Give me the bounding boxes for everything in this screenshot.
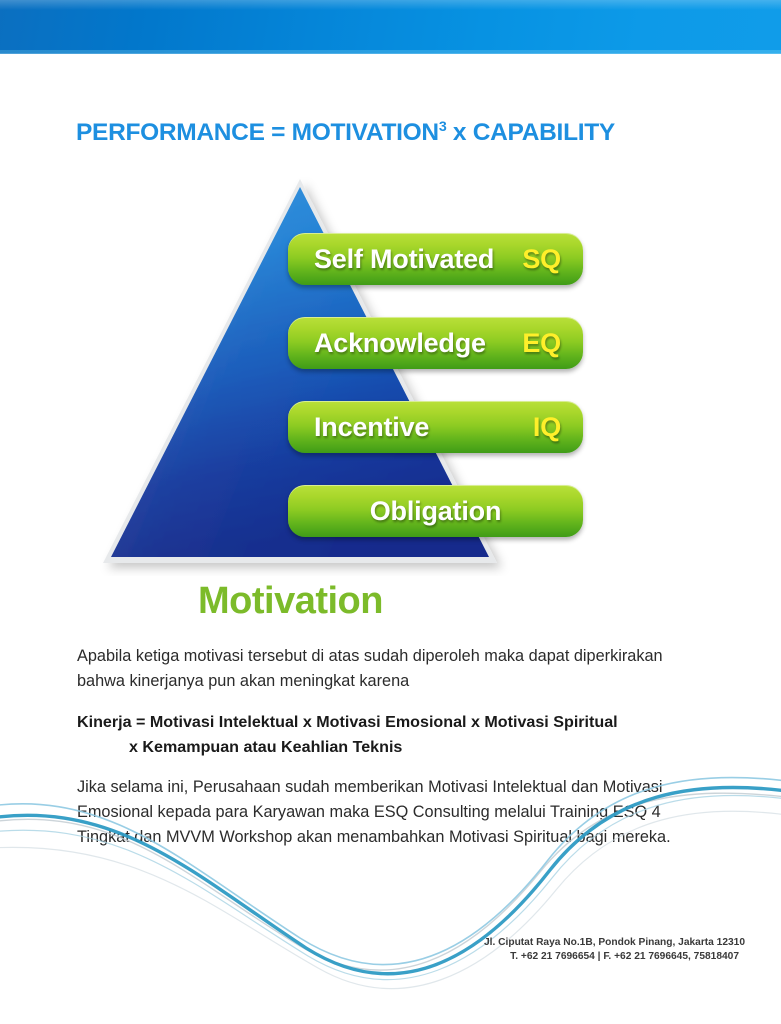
pyramid-level-bar-acknowledge[interactable]: Acknowledge EQ	[288, 317, 583, 369]
level-label: Incentive	[314, 412, 429, 443]
level-label: Acknowledge	[314, 328, 486, 359]
footer-address-line: Jl. Ciputat Raya No.1B, Pondok Pinang, J…	[0, 936, 745, 950]
level-acronym: IQ	[533, 412, 561, 443]
motivation-heading: Motivation	[198, 580, 383, 623]
formula-line-2: x Kemampuan atau Keahlian Teknis	[77, 735, 709, 760]
paragraph-intro: Apabila ketiga motivasi tersebut di atas…	[77, 644, 709, 694]
formula-block: Kinerja = Motivasi Intelektual x Motivas…	[77, 710, 709, 760]
brochure-page: PERFORMANCE = MOTIVATION3 x CAPABILITY	[0, 0, 781, 1024]
footer-contact-line: T. +62 21 7696654 | F. +62 21 7696645, 7…	[0, 950, 745, 964]
level-acronym: SQ	[522, 244, 561, 275]
page-title-suffix: x CAPABILITY	[446, 119, 615, 146]
level-label: Obligation	[370, 496, 501, 527]
pyramid-level-bar-obligation[interactable]: Obligation	[288, 485, 583, 537]
header-banner	[0, 0, 781, 53]
formula-line-1: Kinerja = Motivasi Intelektual x Motivas…	[77, 713, 618, 731]
footer-address: Jl. Ciputat Raya No.1B, Pondok Pinang, J…	[0, 936, 745, 964]
pyramid-level-bar-self-motivated[interactable]: Self Motivated SQ	[288, 233, 583, 285]
paragraph-closing: Jika selama ini, Perusahaan sudah member…	[77, 775, 709, 850]
page-title: PERFORMANCE = MOTIVATION3 x CAPABILITY	[76, 119, 615, 147]
level-label: Self Motivated	[314, 244, 494, 275]
header-banner-edge	[0, 50, 781, 54]
page-title-prefix: PERFORMANCE = MOTIVATION	[76, 119, 439, 146]
pyramid-level-bar-incentive[interactable]: Incentive IQ	[288, 401, 583, 453]
level-acronym: EQ	[522, 328, 561, 359]
header-banner-sheen	[0, 0, 781, 10]
